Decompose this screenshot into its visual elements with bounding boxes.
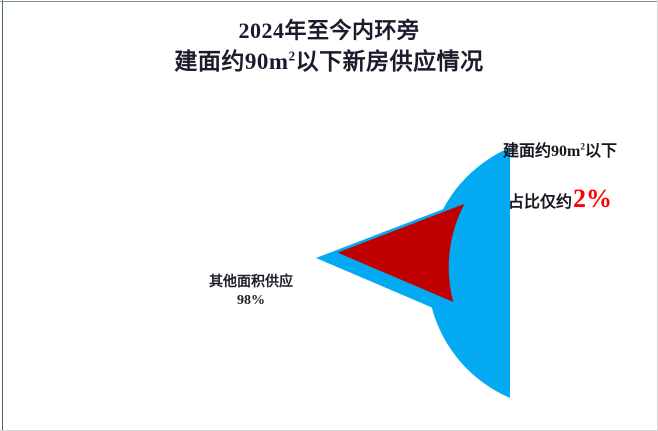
pie-slice-label-value: 98% — [186, 292, 316, 310]
pie-slice-label-other-supply: 其他面积供应 98% — [186, 274, 316, 309]
callout-line-1: 建面约90m2以下 — [466, 140, 654, 164]
callout-line-2: 占比仅约 2% — [466, 184, 654, 218]
callout-highlight-value: 2% — [573, 184, 612, 214]
chart-page: 2024年至今内环旁 建面约90m2以下新房供应情况 其他面积供应 98% 建面… — [0, 0, 658, 431]
chart-title-line-1: 2024年至今内环旁 — [0, 16, 658, 46]
chart-title-superscript: 2 — [289, 48, 296, 63]
pie-chart-svg — [150, 95, 510, 425]
pie-slice-label-name: 其他面积供应 — [186, 274, 316, 292]
chart-title-line-2-before: 建面约90m — [174, 49, 288, 74]
callout-annotation: 建面约90m2以下 占比仅约 2% — [466, 140, 654, 218]
pie-chart — [150, 95, 510, 425]
chart-title: 2024年至今内环旁 建面约90m2以下新房供应情况 — [0, 16, 658, 78]
chart-title-line-2: 建面约90m2以下新房供应情况 — [0, 46, 658, 78]
callout-line-1-after: 以下 — [585, 143, 617, 160]
callout-line-1-before: 建面约90m — [503, 143, 580, 160]
frame-border-top — [0, 1, 658, 2]
callout-prefix-text: 占比仅约 — [508, 188, 572, 218]
chart-title-line-2-after: 以下新房供应情况 — [296, 49, 484, 74]
